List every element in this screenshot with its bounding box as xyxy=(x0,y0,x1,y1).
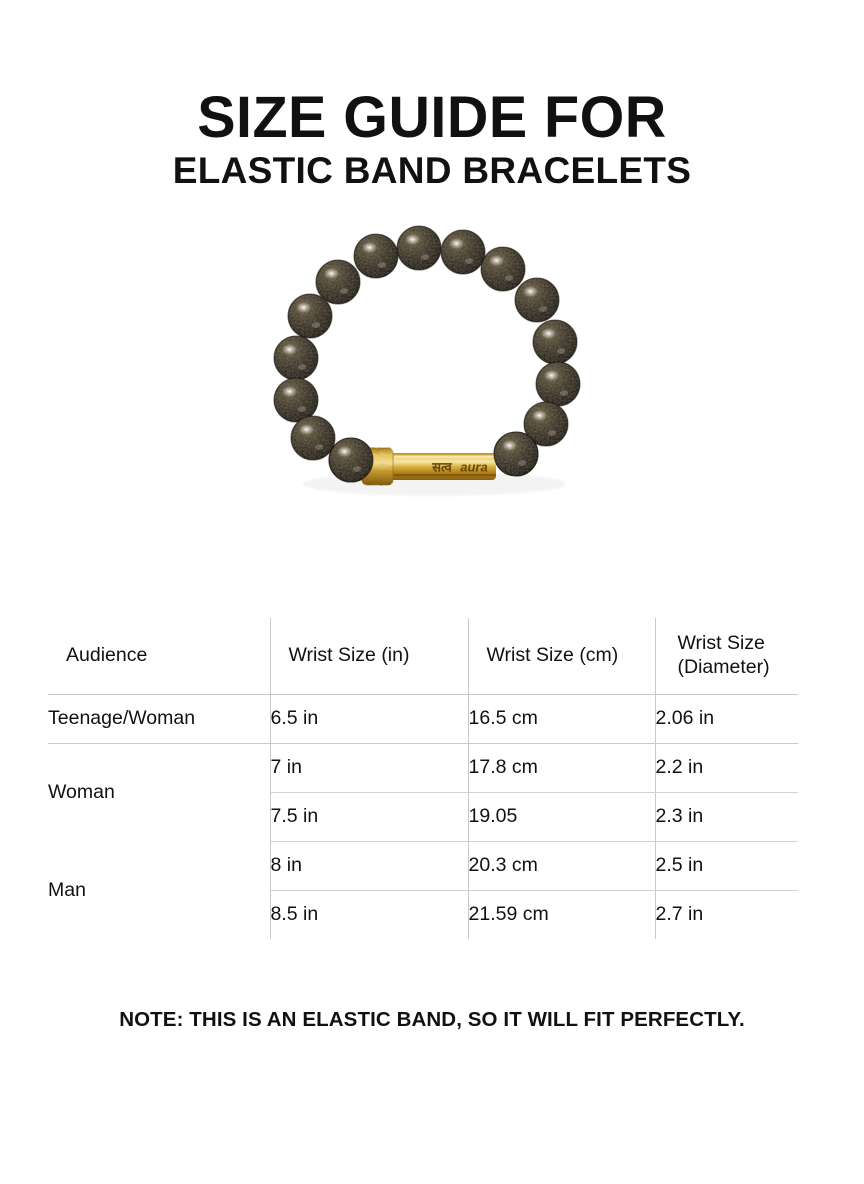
size-table-container: Audience Wrist Size (in) Wrist Size (cm)… xyxy=(48,618,798,939)
table-row: Woman 7 in 17.8 cm 2.2 in xyxy=(48,743,798,792)
cell-wrist-diameter: 2.3 in xyxy=(655,792,798,841)
column-header-wrist-diameter: Wrist Size (Diameter) xyxy=(655,618,798,694)
cell-wrist-diameter: 2.5 in xyxy=(655,841,798,890)
size-guide-table: Audience Wrist Size (in) Wrist Size (cm)… xyxy=(48,618,798,939)
audience-cell-man: Man xyxy=(48,841,270,939)
clasp-engraving-text: सत्व xyxy=(431,459,452,474)
cell-wrist-cm: 16.5 cm xyxy=(468,694,655,743)
cell-wrist-in: 7 in xyxy=(270,743,468,792)
column-header-wrist-in: Wrist Size (in) xyxy=(270,618,468,694)
cell-wrist-cm: 17.8 cm xyxy=(468,743,655,792)
cell-wrist-in: 8.5 in xyxy=(270,890,468,939)
table-row: Teenage/Woman 6.5 in 16.5 cm 2.06 in xyxy=(48,694,798,743)
cell-wrist-in: 8 in xyxy=(270,841,468,890)
column-header-wrist-diameter-line2: (Diameter) xyxy=(678,656,770,678)
bracelet-illustration: सत्व aura xyxy=(258,216,606,516)
product-image-area: सत्व aura xyxy=(0,211,864,541)
clasp-engraving-brand: aura xyxy=(460,459,487,474)
table-header-row: Audience Wrist Size (in) Wrist Size (cm)… xyxy=(48,618,798,694)
column-header-wrist-diameter-line1: Wrist Size xyxy=(678,632,765,654)
table-row: Man 8 in 20.3 cm 2.5 in xyxy=(48,841,798,890)
page-title: SIZE GUIDE FOR ELASTIC BAND BRACELETS xyxy=(0,0,864,193)
audience-cell-teenage-woman: Teenage/Woman xyxy=(48,694,270,743)
cell-wrist-cm: 19.05 xyxy=(468,792,655,841)
cell-wrist-diameter: 2.2 in xyxy=(655,743,798,792)
cell-wrist-in: 6.5 in xyxy=(270,694,468,743)
bracelet-gold-clasp: सत्व aura xyxy=(362,448,496,485)
note-text: NOTE: THIS IS AN ELASTIC BAND, SO IT WIL… xyxy=(0,1008,864,1032)
column-header-wrist-cm: Wrist Size (cm) xyxy=(468,618,655,694)
cell-wrist-in: 7.5 in xyxy=(270,792,468,841)
cell-wrist-cm: 20.3 cm xyxy=(468,841,655,890)
page-title-line1: SIZE GUIDE FOR xyxy=(4,88,859,147)
cell-wrist-diameter: 2.7 in xyxy=(655,890,798,939)
audience-cell-woman: Woman xyxy=(48,743,270,841)
cell-wrist-cm: 21.59 cm xyxy=(468,890,655,939)
bracelet-product-image: सत्व aura xyxy=(258,216,606,516)
cell-wrist-diameter: 2.06 in xyxy=(655,694,798,743)
column-header-audience: Audience xyxy=(48,618,270,694)
page-title-line2: ELASTIC BAND BRACELETS xyxy=(0,149,864,193)
